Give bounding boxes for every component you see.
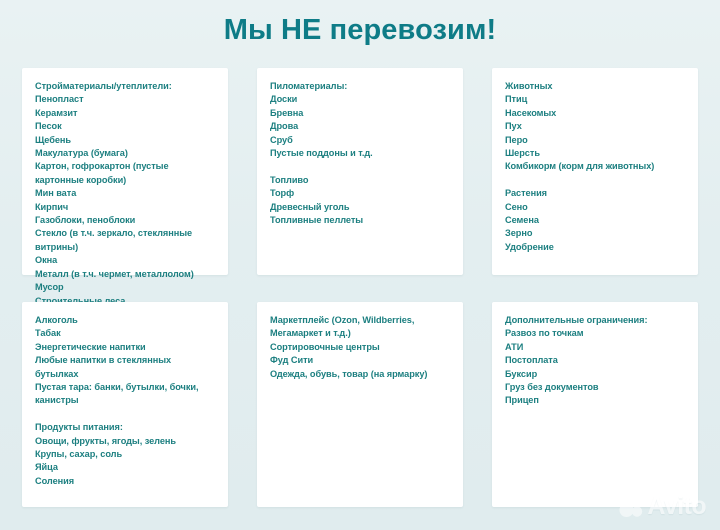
card-list-animals-and-plants: ЖивотныхПтицНасекомыхПухПероШерстьКомбик… [505,80,685,254]
list-item: Развоз по точкам [505,327,685,340]
page-title: Мы НЕ перевозим! [0,14,720,47]
list-item: АТИ [505,341,685,354]
list-item: Груз без документов [505,381,685,394]
list-item: Пух [505,120,685,133]
list-item: Картон, гофрокартон (пустые картонные ко… [35,160,215,187]
list-item: Буксир [505,368,685,381]
list-item: Песок [35,120,215,133]
list-item: Доски [270,93,450,106]
card-additional-restrictions: Дополнительные ограничения:Развоз по точ… [492,302,698,507]
list-item: Шерсть [505,147,685,160]
list-item: Любые напитки в стеклянных бутылках [35,354,215,381]
cards-row-bottom: АлкогольТабакЭнергетические напиткиЛюбые… [22,302,698,507]
card-marketplaces: Маркетплейс (Ozon, Wildberries, Мегамарк… [257,302,463,507]
list-item: Маркетплейс (Ozon, Wildberries, Мегамарк… [270,314,450,341]
list-item: Торф [270,187,450,200]
list-item: Стекло (в т.ч. зеркало, стеклянные витри… [35,227,215,254]
list-item: Комбикорм (корм для животных) [505,160,685,173]
list-item: Мусор [35,281,215,294]
list-item: Яйца [35,461,215,474]
list-item: Зерно [505,227,685,240]
list-item: Окна [35,254,215,267]
list-item: Пенопласт [35,93,215,106]
cards-row-top: Стройматериалы/утеплители:ПенопластКерам… [22,68,698,275]
list-item: Одежда, обувь, товар (на ярмарку) [270,368,450,381]
list-spacer [35,408,215,421]
list-item: Фуд Сити [270,354,450,367]
list-item: Растения [505,187,685,200]
card-list-additional-restrictions: Дополнительные ограничения:Развоз по точ… [505,314,685,408]
card-list-marketplaces: Маркетплейс (Ozon, Wildberries, Мегамарк… [270,314,450,381]
list-item: Сено [505,201,685,214]
card-list-lumber-and-fuel: Пиломатериалы:ДоскиБревнаДроваСрубПустые… [270,80,450,227]
list-item: Топливные пеллеты [270,214,450,227]
list-item: Прицеп [505,394,685,407]
list-item: Пиломатериалы: [270,80,450,93]
list-item: Дополнительные ограничения: [505,314,685,327]
list-item: Пустые поддоны и т.д. [270,147,450,160]
list-item: Энергетические напитки [35,341,215,354]
card-list-alcohol-and-food: АлкогольТабакЭнергетические напиткиЛюбые… [35,314,215,488]
list-item: Сруб [270,134,450,147]
card-animals-and-plants: ЖивотныхПтицНасекомыхПухПероШерстьКомбик… [492,68,698,275]
list-item: Постоплата [505,354,685,367]
list-item: Топливо [270,174,450,187]
list-spacer [270,160,450,173]
list-item: Дрова [270,120,450,133]
card-construction-materials: Стройматериалы/утеплители:ПенопластКерам… [22,68,228,275]
list-item: Сортировочные центры [270,341,450,354]
page-root: Мы НЕ перевозим! Стройматериалы/утеплите… [0,0,720,530]
list-item: Продукты питания: [35,421,215,434]
card-lumber-and-fuel: Пиломатериалы:ДоскиБревнаДроваСрубПустые… [257,68,463,275]
list-item: Птиц [505,93,685,106]
list-item: Стройматериалы/утеплители: [35,80,215,93]
list-spacer [505,174,685,187]
list-item: Кирпич [35,201,215,214]
restriction-cards-grid: Стройматериалы/утеплители:ПенопластКерам… [22,68,698,507]
card-list-construction-materials: Стройматериалы/утеплители:ПенопластКерам… [35,80,215,308]
list-item: Удобрение [505,241,685,254]
list-item: Перо [505,134,685,147]
list-item: Керамзит [35,107,215,120]
list-item: Животных [505,80,685,93]
list-item: Металл (в т.ч. чермет, металлолом) [35,268,215,281]
list-item: Макулатура (бумага) [35,147,215,160]
list-item: Пустая тара: банки, бутылки, бочки, кани… [35,381,215,408]
list-item: Насекомых [505,107,685,120]
card-alcohol-and-food: АлкогольТабакЭнергетические напиткиЛюбые… [22,302,228,507]
list-item: Овощи, фрукты, ягоды, зелень [35,435,215,448]
list-item: Бревна [270,107,450,120]
list-item: Табак [35,327,215,340]
list-item: Газоблоки, пеноблоки [35,214,215,227]
list-item: Алкоголь [35,314,215,327]
list-item: Соления [35,475,215,488]
list-item: Мин вата [35,187,215,200]
list-item: Древесный уголь [270,201,450,214]
list-item: Крупы, сахар, соль [35,448,215,461]
list-item: Семена [505,214,685,227]
list-item: Щебень [35,134,215,147]
